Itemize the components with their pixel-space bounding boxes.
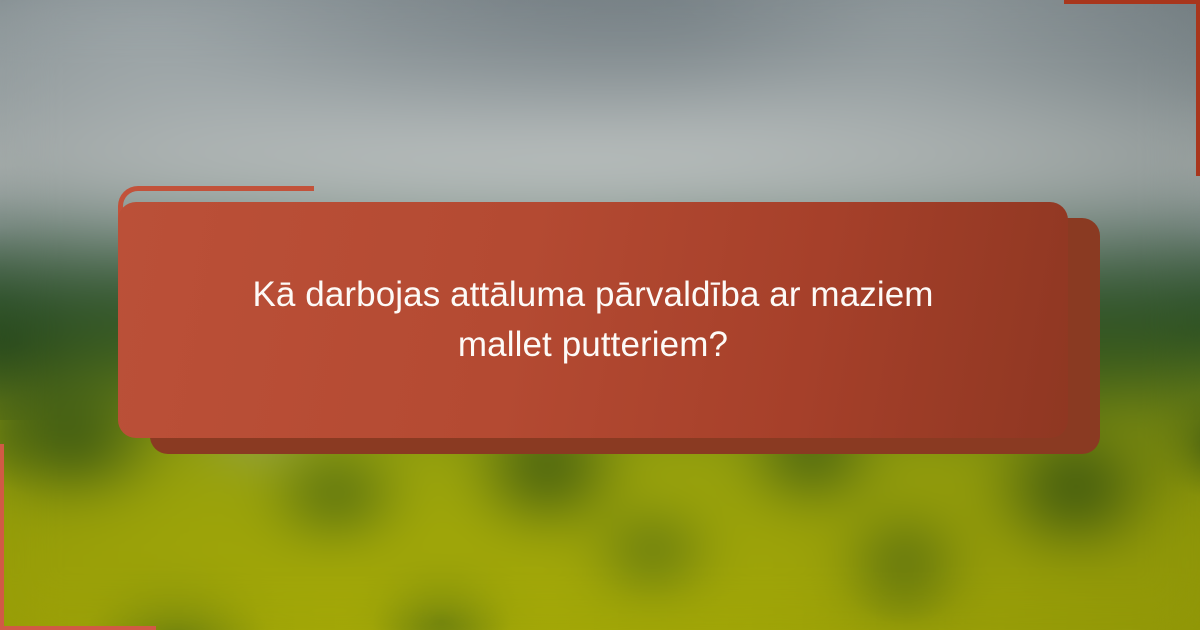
- question-title: Kā darbojas attāluma pārvaldība ar mazie…: [203, 270, 983, 369]
- question-card: Kā darbojas attāluma pārvaldība ar mazie…: [118, 202, 1068, 438]
- social-card-canvas: Kā darbojas attāluma pārvaldība ar mazie…: [0, 0, 1200, 630]
- question-card-stack: Kā darbojas attāluma pārvaldība ar mazie…: [118, 186, 1100, 454]
